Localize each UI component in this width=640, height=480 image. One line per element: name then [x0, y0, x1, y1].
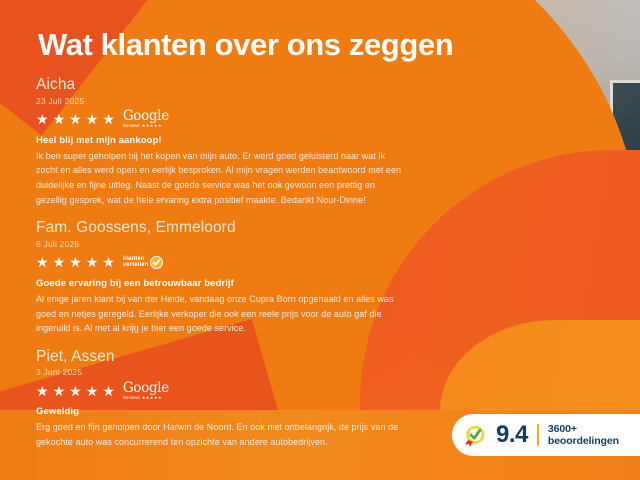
- star-rating: ★ ★ ★ ★ ★: [36, 384, 115, 398]
- review-body: Al enige jaren klant bij van der Heide, …: [36, 292, 408, 336]
- star-rating: ★ ★ ★ ★ ★: [36, 112, 115, 126]
- review-item: Piet, Assen 3 Juni 2025 ★ ★ ★ ★ ★ Google…: [36, 348, 408, 450]
- star-icon: ★: [69, 112, 82, 126]
- google-wordmark: Google: [123, 382, 169, 396]
- review-title: Geweldig: [36, 406, 408, 417]
- klantenvertellen-seal-icon: [462, 423, 487, 448]
- review-date: 6 Juli 2025: [36, 239, 408, 249]
- review-title: Heel blij met mijn aankoop!: [36, 135, 408, 146]
- star-rating: ★ ★ ★ ★ ★: [36, 255, 115, 269]
- google-reviews-stars-icon: ★★★★★: [142, 396, 162, 400]
- review-title: Goede ervaring bij een betrouwbaar bedri…: [36, 278, 408, 289]
- google-reviews-label: Reviews: [123, 396, 140, 400]
- google-wordmark: Google: [123, 110, 169, 124]
- page-title: Wat klanten over ons zeggen: [38, 28, 453, 63]
- score-meta: 3600+ beoordelingen: [548, 423, 619, 448]
- star-icon: ★: [102, 112, 115, 126]
- star-icon: ★: [69, 255, 82, 269]
- review-rating-row: ★ ★ ★ ★ ★ Google Reviews ★★★★★: [36, 110, 408, 129]
- star-icon: ★: [53, 255, 66, 269]
- review-rating-row: ★ ★ ★ ★ ★ klanten vertellen: [36, 253, 408, 272]
- google-reviews-logo: Google Reviews ★★★★★: [123, 110, 169, 129]
- google-reviews-subline: Reviews ★★★★★: [123, 124, 169, 128]
- klantenvertellen-wordmark: klanten vertellen: [123, 256, 149, 270]
- star-icon: ★: [102, 384, 115, 398]
- review-author: Piet, Assen: [36, 348, 408, 366]
- klantenvertellen-check-icon: [150, 256, 163, 269]
- review-author: Fam. Goossens, Emmeloord: [36, 219, 408, 237]
- review-author: Aicha: [36, 76, 408, 94]
- score-value: 9.4: [496, 423, 528, 447]
- star-icon: ★: [69, 384, 82, 398]
- score-badge: 9.4 3600+ beoordelingen: [452, 414, 640, 456]
- review-item: Aicha 23 Juli 2025 ★ ★ ★ ★ ★ Google Revi…: [36, 76, 408, 207]
- review-count-label: beoordelingen: [548, 435, 619, 447]
- star-icon: ★: [36, 384, 49, 398]
- score-divider: [537, 424, 539, 446]
- review-body: Ik ben super geholpen bij het kopen van …: [36, 149, 408, 207]
- star-icon: ★: [86, 255, 99, 269]
- klantenvertellen-wordmark-line2: vertellen: [123, 262, 149, 269]
- google-reviews-stars-icon: ★★★★★: [142, 124, 162, 128]
- google-reviews-logo: Google Reviews ★★★★★: [123, 382, 169, 401]
- review-body: Erg goed en fijn geholpen door Harwin de…: [36, 420, 408, 449]
- review-rating-row: ★ ★ ★ ★ ★ Google Reviews ★★★★★: [36, 381, 408, 400]
- star-icon: ★: [36, 255, 49, 269]
- reviews-list: Aicha 23 Juli 2025 ★ ★ ★ ★ ★ Google Revi…: [36, 76, 408, 450]
- review-item: Fam. Goossens, Emmeloord 6 Juli 2025 ★ ★…: [36, 219, 408, 336]
- star-icon: ★: [102, 255, 115, 269]
- klantenvertellen-wordmark-line1: klanten: [123, 256, 149, 263]
- star-icon: ★: [36, 112, 49, 126]
- google-reviews-label: Reviews: [123, 124, 140, 128]
- review-count: 3600+: [548, 423, 619, 435]
- star-icon: ★: [86, 112, 99, 126]
- star-icon: ★: [53, 112, 66, 126]
- star-icon: ★: [53, 384, 66, 398]
- star-icon: ★: [86, 384, 99, 398]
- google-reviews-subline: Reviews ★★★★★: [123, 396, 169, 400]
- customer-reviews-banner: Wat klanten over ons zeggen Aicha 23 Jul…: [0, 0, 640, 480]
- review-date: 3 Juni 2025: [36, 367, 408, 377]
- review-date: 23 Juli 2025: [36, 96, 408, 106]
- klantenvertellen-logo: klanten vertellen: [123, 256, 164, 270]
